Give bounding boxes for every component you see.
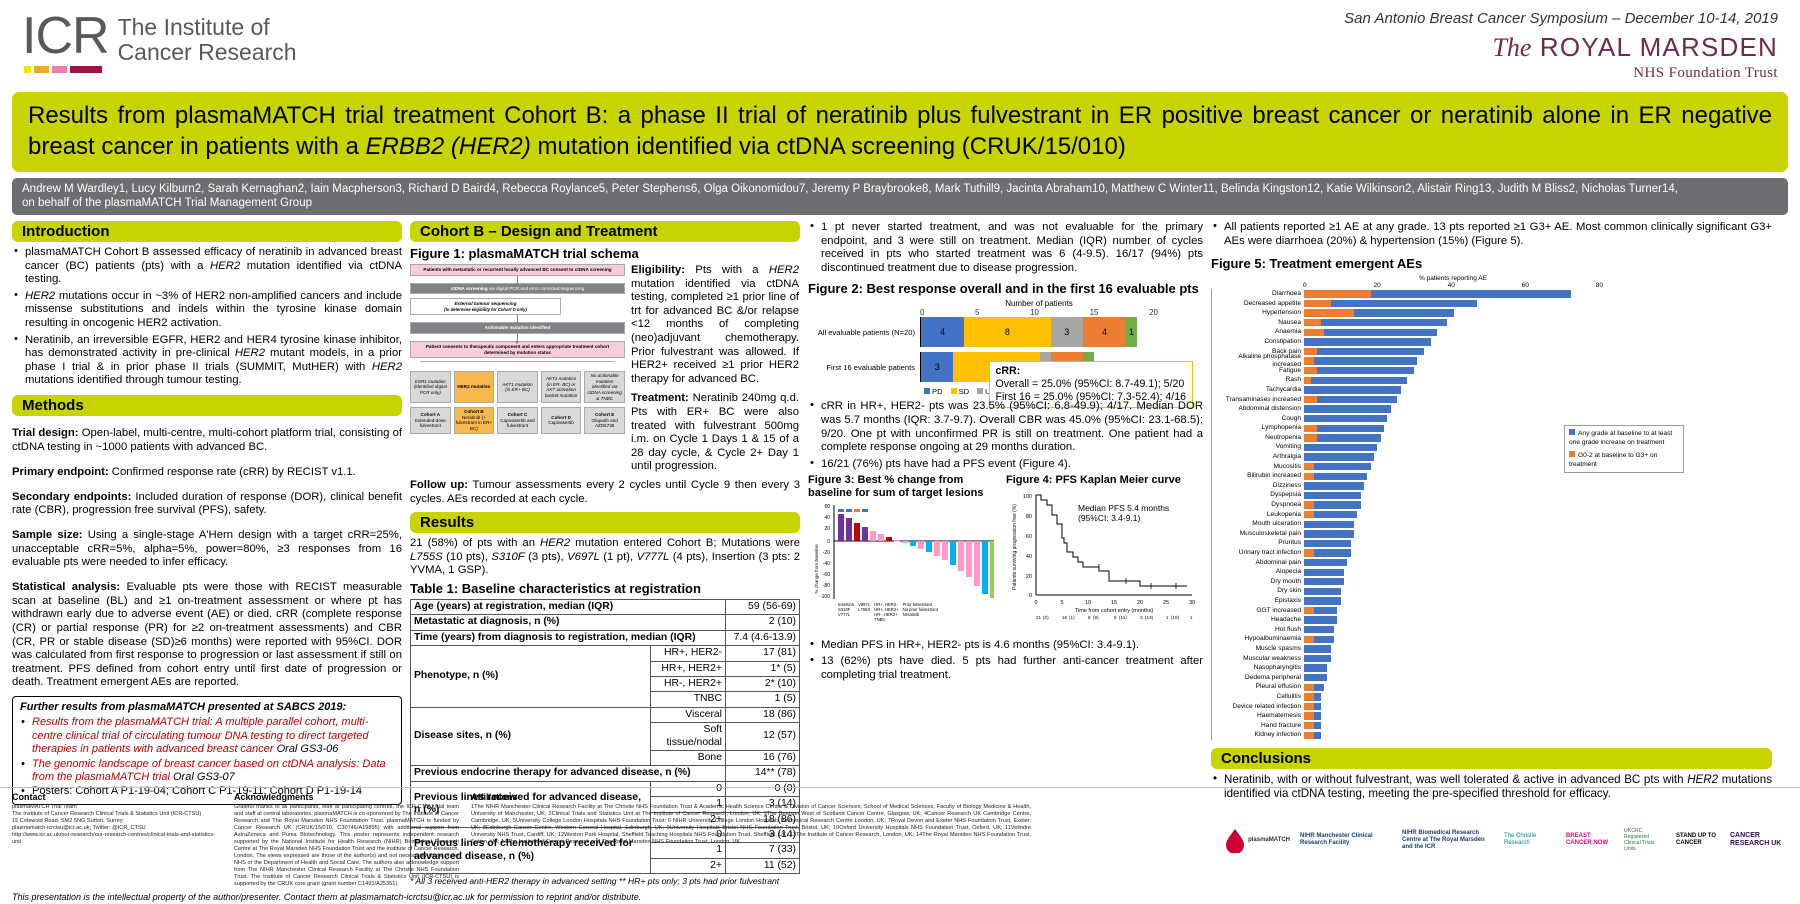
svg-text:(8): (8) [1093, 615, 1099, 620]
ae-row-label: Dizziness [1212, 482, 1304, 490]
ae-row-bars [1304, 290, 1603, 297]
ae-row-bars [1304, 367, 1603, 374]
ae-bar-any-grade [1304, 578, 1344, 585]
schema-cohort-d: Cohort DCapivasertib [541, 407, 582, 433]
figure2-cat-label-1: All evaluable patients (N=20) [808, 328, 920, 337]
figure5-title: Figure 5: Treatment emergent AEs [1211, 256, 1772, 271]
royal-marsden-title: The ROYAL MARSDEN [1492, 32, 1778, 63]
figure4-chart: 100 80 60 40 20 0 Patients surviving pro… [1006, 487, 1206, 637]
ae-row: Constipation [1212, 337, 1603, 347]
ae-row-label: Anaemia [1212, 328, 1304, 336]
km-annotation-line1: Median PFS 5.4 months [1078, 503, 1169, 513]
section-heading-methods: Methods [12, 395, 402, 416]
ae-row: Urinary tract infection [1212, 548, 1603, 558]
figure2-axis-title: Number of patients [920, 299, 1158, 308]
section-heading-conclusions: Conclusions [1211, 748, 1772, 769]
figure2-title: Figure 2: Best response overall and in t… [808, 281, 1203, 296]
methods-primary-endpoint-label: Primary endpoint: [12, 466, 109, 478]
ae-row-label: Muscle spasms [1212, 645, 1304, 653]
svg-text:20: 20 [1026, 574, 1032, 580]
svg-text:-60: -60 [823, 572, 830, 578]
ae-row-bars [1304, 348, 1603, 355]
ae-row: Mouth ulceration [1212, 519, 1603, 529]
legend-swatch-icon-pd [924, 388, 930, 394]
further-results-heading: Further results from plasmaMATCH present… [20, 701, 394, 714]
figure3-legend-mutations: Insertion S310F V777L [838, 602, 854, 622]
ae-row-bars [1304, 357, 1603, 364]
cruk-logo: CANCER RESEARCH UK [1730, 832, 1788, 848]
ae-row-bars [1304, 405, 1603, 412]
km-annotation: Median PFS 5.4 months (95%CI: 3.4-9.1) [1078, 503, 1169, 523]
nihr-brc-label: NIHR Biomedical Research Centre at The R… [1402, 830, 1494, 851]
ae-row-label: Nasopharyngitis [1212, 664, 1304, 672]
t1-disease-val-1: 18 (86) [726, 707, 800, 722]
ae-bar-g3plus [1304, 549, 1314, 556]
footer-columns: Contact plasmaMATCH Trial Team The Insti… [12, 792, 1788, 888]
ae-row: Rash [1212, 376, 1603, 386]
ae-row-bars [1304, 329, 1603, 336]
ae-row-label: Diarrhoea [1212, 290, 1304, 298]
methods-sample-size: Sample size: Using a single-stage A'Hern… [12, 529, 402, 570]
ae-row: Oedema peripheral [1212, 673, 1603, 683]
svg-text:(1): (1) [1069, 615, 1075, 620]
ae-bar-g3plus [1304, 703, 1314, 710]
svg-text:60: 60 [824, 504, 830, 510]
figure4-title: Figure 4: PFS Kaplan Meier curve [1006, 474, 1202, 487]
figure2-legend-sd-label: SD [959, 387, 970, 396]
ae-row-bars [1304, 626, 1603, 633]
ae-row-bars [1304, 549, 1603, 556]
ae-row-bars [1304, 674, 1603, 681]
schema-cohort-c: Cohort CCapivasertib and fulvestrant [497, 407, 538, 433]
ae-bar-any-grade [1304, 521, 1354, 528]
figure2-seg-sd-1: 8 [964, 317, 1050, 347]
methods-secondary-endpoints: Secondary endpoints: Included duration o… [12, 491, 402, 518]
ae-row-label: Nausea [1212, 319, 1304, 327]
ae-row-bars [1304, 415, 1603, 422]
schema-cohort-d-desc: Capivasertib [548, 420, 574, 426]
ae-row-label: Mouth ulceration [1212, 520, 1304, 528]
schema-step-2-rest: via digital PCR and error corrected sequ… [488, 286, 585, 291]
ae-bar-any-grade [1304, 386, 1401, 393]
legend-swatch-icon-g3plus [1569, 451, 1575, 457]
ae-row: Alkaline phosphatase increased [1212, 356, 1603, 366]
svg-text:(11): (11) [1119, 615, 1127, 620]
ae-row-label: Hypertension [1212, 309, 1304, 317]
figure2-bar-row-all: All evaluable patients (N=20) 4 8 3 4 1 [808, 317, 1203, 347]
km-annotation-line2: (95%CI: 3.4-9.1) [1078, 513, 1169, 523]
col3-bullet-list-1: 1 pt never started treatment, and was no… [808, 221, 1203, 275]
figure2-xtick-0: 0 [920, 308, 924, 317]
ae-row: Vomiting [1212, 443, 1603, 453]
figure5-bar-rows: DiarrhoeaDecreased appetiteHypertensionN… [1211, 289, 1603, 740]
t1-r10-label: Previous endocrine therapy for advanced … [411, 766, 726, 781]
trial-schema-diagram: Patients with metastatic or recurrent lo… [410, 264, 625, 474]
ae-row-label: Pruritus [1212, 539, 1304, 547]
plasmamatch-drop-icon [1222, 827, 1248, 853]
ae-row: Fatigue [1212, 366, 1603, 376]
t1-disease-sub-3: Bone [650, 750, 725, 765]
schema-cohort-c-desc: Capivasertib and fulvestrant [499, 418, 536, 429]
figure2-xtick-4: 20 [1149, 308, 1158, 317]
col4-bullet-list: All patients reported ≥1 AE at any grade… [1211, 221, 1772, 248]
svg-text:80: 80 [1026, 514, 1032, 520]
svg-text:20: 20 [1137, 600, 1143, 606]
column-3: 1 pt never started treatment, and was no… [808, 221, 1203, 686]
ae-row-bars [1304, 492, 1603, 499]
ae-row-label: Neutropenia [1212, 434, 1304, 442]
ae-bar-any-grade [1304, 530, 1354, 537]
svg-text:16: 16 [1062, 615, 1068, 620]
icr-logo-line2: Cancer Research [118, 40, 297, 65]
ae-row-label: Mucositis [1212, 463, 1304, 471]
ae-bar-any-grade [1304, 357, 1417, 364]
ae-row-bars [1304, 425, 1603, 432]
schema-arrow-icon-3 [517, 334, 518, 341]
figure3-block: Figure 3: Best % change from baseline fo… [808, 474, 1000, 637]
col3-bullet-5: 13 (62%) pts have died. 5 pts had furthe… [821, 655, 1203, 682]
ae-bar-g3plus [1304, 348, 1317, 355]
ae-row-bars [1304, 616, 1603, 623]
footer-ack-heading: Acknowledgments [234, 792, 459, 802]
table-row: Previous endocrine therapy for advanced … [411, 766, 800, 781]
svg-text:15: 15 [1111, 600, 1117, 606]
svg-text:0: 0 [1034, 600, 1037, 606]
fig3-note-3: Neratinib [903, 612, 938, 617]
ae-row-bars [1304, 396, 1603, 403]
svg-text:0: 0 [1029, 593, 1032, 599]
ae-row-label: Abdominal pain [1212, 559, 1304, 567]
ae-row-label: Abdominal distension [1212, 405, 1304, 413]
methods-trial-design-label: Trial design: [12, 427, 79, 439]
ae-row-label: Constipation [1212, 338, 1304, 346]
poster-title: Results from plasmaMATCH trial treatment… [12, 92, 1788, 172]
ae-bar-g3plus [1304, 732, 1314, 739]
methods-sample-size-label: Sample size: [12, 529, 83, 541]
ae-bar-any-grade [1304, 482, 1364, 489]
ae-row: Alopecia [1212, 567, 1603, 577]
figure2-track-1: 4 8 3 4 1 [920, 317, 1158, 347]
ae-row-label: Tachycardia [1212, 386, 1304, 394]
svg-text:Time from cohort entry (months: Time from cohort entry (months) [1075, 608, 1154, 614]
methods-trial-design: Trial design: Open-label, multi-centre, … [12, 427, 402, 454]
intro-bullet-1: plasmaMATCH Cohort B assessed efficacy o… [25, 246, 402, 287]
figure3-figure4-row: Figure 3: Best % change from baseline fo… [808, 474, 1203, 637]
footer-contact: Contact plasmaMATCH Trial Team The Insti… [12, 792, 222, 888]
ae-bar-g3plus [1304, 607, 1314, 614]
ae-bar-g3plus [1304, 396, 1317, 403]
ae-row-bars [1304, 664, 1603, 671]
svg-text:100: 100 [1023, 494, 1032, 500]
ae-row-bars [1304, 732, 1603, 739]
col3-bullet-list-3: Median PFS in HR+, HER2- pts is 4.6 mont… [808, 639, 1203, 683]
col3-bullet-2: cRR in HR+, HER2- pts was 23.5% (95%CI: … [821, 400, 1203, 454]
crr-box-line1: Overall = 25.0% (95%CI: 8.7-49.1); 5/20 [996, 378, 1187, 391]
svg-text:-20: -20 [823, 550, 830, 556]
ae-bar-any-grade [1304, 626, 1334, 633]
svg-text:-40: -40 [823, 561, 830, 567]
legend-swatch-icon-upr [977, 388, 983, 394]
svg-text:10: 10 [1085, 600, 1091, 606]
legend-swatch-icon-sd [951, 388, 957, 394]
ae-row-bars [1304, 703, 1603, 710]
figure2-seg-cr-1: 1 [1126, 317, 1137, 347]
nihr-manchester-logo: NIHR Manchester Clinical Research Facili… [1300, 833, 1392, 847]
ae-row-label: Headache [1212, 616, 1304, 624]
ae-row: Device related infection [1212, 702, 1603, 712]
svg-text:-100: -100 [820, 594, 830, 600]
svg-text:40: 40 [1026, 554, 1032, 560]
ae-row: Tachycardia [1212, 385, 1603, 395]
footer-affiliations: Affiliations 1The NIHR Manchester Clinic… [471, 792, 1031, 888]
ae-row: Dry skin [1212, 587, 1603, 597]
schema-step-2-bold: ctDNA screening [451, 286, 488, 291]
schema-arrow-icon-2 [517, 315, 518, 322]
icr-logo-words: The Institute of Cancer Research [118, 15, 297, 65]
ae-row-label: Hypoalbuminaemia [1212, 635, 1304, 643]
further-item-2-ref: Oral GS3-07 [173, 771, 235, 783]
ae-row: Musculoskeletal pain [1212, 529, 1603, 539]
ae-row-label: Hot flush [1212, 626, 1304, 634]
ae-bar-g3plus [1304, 463, 1314, 470]
authors-behalf: on behalf of the plasmaMATCH Trial Manag… [22, 196, 1778, 210]
ae-row-label: Dyspepsia [1212, 491, 1304, 499]
title-gene: ERBB2 (HER2) [366, 133, 531, 160]
schema-cohort-a-desc: Extended-dose fulvestrant [412, 418, 449, 429]
eligibility-treatment-text: Eligibility: Pts with a HER2 mutation id… [631, 264, 799, 474]
ae-row-label: Epistaxis [1212, 597, 1304, 605]
methods-primary-endpoint-text: Confirmed response rate (cRR) by RECIST … [109, 466, 356, 478]
figure4-block: Figure 4: PFS Kaplan Meier curve 100 80 … [1006, 474, 1202, 637]
ae-row-bars [1304, 300, 1603, 307]
figure2-legend-pd: PD [924, 387, 943, 396]
schema-mutation-akt1-erpos: AKT1 mutation (in ER+ BC) [497, 371, 538, 403]
ae-bar-g3plus [1304, 425, 1317, 432]
t1-phenotype-label: Phenotype, n (%) [411, 646, 651, 708]
schema-cohort-b-desc: Neratinib (+ fulvestrant in ER+ BC) [456, 415, 493, 432]
t1-r1-value: 2 (10) [726, 615, 800, 630]
svg-text:60: 60 [1026, 534, 1032, 540]
ae-row-bars [1304, 338, 1603, 345]
ae-row-bars [1304, 463, 1603, 470]
ae-row-label: Haematemesis [1212, 712, 1304, 720]
figure5-legend-any: Any grade at baseline to at least one gr… [1569, 429, 1679, 447]
further-item-1: Results from the plasmaMATCH trial: A mu… [32, 716, 394, 756]
footer-affil-text: 1The NIHR Manchester Clinical Research F… [471, 804, 1031, 846]
ae-row-bars [1304, 722, 1603, 729]
ae-row: Transaminases increased [1212, 395, 1603, 405]
ae-row: Arthralgia [1212, 452, 1603, 462]
svg-text:% change from baseline: % change from baseline [814, 544, 819, 594]
ae-row: Dry mouth [1212, 577, 1603, 587]
ae-row-label: Vomiting [1212, 443, 1304, 451]
footer-logo-strip: plasmaMATCH NIHR Manchester Clinical Res… [1043, 792, 1788, 888]
methods-secondary-endpoints-label: Secondary endpoints: [12, 491, 131, 503]
ae-bar-g3plus [1304, 511, 1314, 518]
figure5-legend-g3-label: G0-2 at baseline to G3+ on treatment [1569, 452, 1657, 468]
svg-text:1: 1 [1166, 615, 1169, 620]
footer-ack-text: Grateful thanks to all participants, sta… [234, 804, 459, 888]
methods-body: Trial design: Open-label, multi-centre, … [12, 427, 402, 690]
schema-external-sequencing: External tumour sequencing (to determine… [410, 298, 561, 315]
ae-row-label: Urinary tract infection [1212, 549, 1304, 557]
ae-row: Headache [1212, 615, 1603, 625]
ae-row-label: GGT increased [1212, 607, 1304, 615]
ae-row-bars [1304, 540, 1603, 547]
figure5-xtick-0: 0 [1303, 282, 1307, 289]
figure5-xtick-3: 60 [1522, 282, 1529, 289]
figure5-legend: Any grade at baseline to at least one gr… [1564, 425, 1684, 473]
ae-row-bars [1304, 453, 1603, 460]
column-1: Introduction plasmaMATCH Cohort B assess… [12, 221, 402, 805]
figure2-seg-pd-1: 4 [921, 317, 964, 347]
methods-statistical-analysis-label: Statistical analysis: [12, 581, 120, 593]
ae-row: Hypoalbuminaemia [1212, 635, 1603, 645]
ae-bar-g3plus [1304, 357, 1314, 364]
svg-text:-80: -80 [823, 583, 830, 589]
royal-marsden-name: ROYAL MARSDEN [1540, 32, 1778, 62]
ae-row: Hand fracture [1212, 721, 1603, 731]
breast-cancer-now-logo: BREAST CANCER NOW [1566, 833, 1614, 847]
ae-bar-g3plus [1304, 722, 1314, 729]
poster-columns: Introduction plasmaMATCH Cohort B assess… [0, 215, 1800, 886]
ae-bar-any-grade [1304, 597, 1341, 604]
ae-row: Dizziness [1212, 481, 1603, 491]
ae-row: Pruritus [1212, 539, 1603, 549]
figure2-seg-pd-2: 3 [921, 352, 953, 382]
ae-bar-g3plus [1304, 473, 1314, 480]
methods-primary-endpoint: Primary endpoint: Confirmed response rat… [12, 466, 402, 480]
t1-phenotype-sub-1: HR+, HER2- [650, 646, 725, 661]
methods-statistical-analysis-text: Evaluable pts were those with RECIST mea… [12, 581, 402, 688]
ae-row: GGT increased [1212, 606, 1603, 616]
figure5-xtick-4: 80 [1596, 282, 1603, 289]
ae-bar-any-grade [1304, 492, 1361, 499]
figure3-legend-notes: Prior fulvestrant No prior fulvestrant N… [903, 602, 938, 622]
ae-row: Neutropenia [1212, 433, 1603, 443]
svg-text:40: 40 [824, 515, 830, 521]
ae-row-label: Cellulitis [1212, 693, 1304, 701]
ae-bar-any-grade [1304, 616, 1337, 623]
ae-row: Hypertension [1212, 308, 1603, 318]
ae-row-label: Pleural effusion [1212, 683, 1304, 691]
t1-r0-value: 59 (56-69) [726, 599, 800, 614]
ae-row-label: Lymphopenia [1212, 424, 1304, 432]
t1-r2-label: Time (years) from diagnosis to registrat… [411, 630, 726, 645]
svg-text:20: 20 [824, 526, 830, 532]
followup-label: Follow up: [410, 479, 468, 491]
ae-row-bars [1304, 588, 1603, 595]
t1-phenotype-val-4: 1 (5) [726, 692, 800, 707]
ae-row-label: Rash [1212, 376, 1304, 384]
ae-row: Muscle spasms [1212, 644, 1603, 654]
t1-phenotype-sub-4: TNBC [650, 692, 725, 707]
ae-row: Abdominal distension [1212, 404, 1603, 414]
ukcrc-logo: UKCRC Registered Clinical Trials Units [1624, 828, 1666, 852]
figure5-axis-title: % patients reporting AE [1303, 275, 1603, 282]
ae-row: Kidney infection [1212, 731, 1603, 741]
ae-row-bars [1304, 569, 1603, 576]
ae-bar-any-grade [1304, 588, 1341, 595]
figure2-seg-upr-1: 3 [1051, 317, 1083, 347]
schema-step-1: Patients with metastatic or recurrent lo… [410, 264, 625, 276]
ae-bar-g3plus [1304, 377, 1311, 384]
conference-name: San Antonio Breast Cancer Symposium – De… [1344, 10, 1778, 27]
ae-row-bars [1304, 521, 1603, 528]
figure2-legend-pd-label: PD [932, 387, 943, 396]
christie-label: The Christie Research [1504, 833, 1556, 847]
plasmamatch-logo: plasmaMATCH [1222, 827, 1290, 853]
schema-cohort-b: Cohort BNeratinib (+ fulvestrant in ER+ … [454, 407, 495, 433]
author-list: Andrew M Wardley1, Lucy Kilburn2, Sarah … [12, 178, 1788, 215]
table1-title: Table 1: Baseline characteristics at reg… [410, 581, 800, 596]
svg-text:25: 25 [1163, 600, 1169, 606]
ae-row-bars [1304, 655, 1603, 662]
ae-row: Pleural effusion [1212, 683, 1603, 693]
svg-text:3: 3 [1140, 615, 1143, 620]
ae-bar-any-grade [1304, 540, 1351, 547]
schema-mutation-row: ESR1 mutation (identified digital PCR on… [410, 371, 625, 403]
ae-bar-any-grade [1304, 405, 1391, 412]
col3-bullet-list-2: cRR in HR+, HER2- pts was 23.5% (95%CI: … [808, 400, 1203, 471]
ae-row-label: Cough [1212, 415, 1304, 423]
svg-text:1: 1 [1190, 615, 1193, 620]
figure3-legend-phenotype: HR+, HER2- HR+, HER2+ HR-, HER2+ TNBC [874, 602, 898, 622]
svg-text:6: 6 [1114, 615, 1117, 620]
icr-logo: ICR The Institute of Cancer Research [22, 12, 297, 65]
ae-row-bars [1304, 559, 1603, 566]
ae-row: Diarrhoea [1212, 289, 1603, 299]
ae-row: Haematemesis [1212, 711, 1603, 721]
ae-row-label: Arthralgia [1212, 453, 1304, 461]
figure5-legend-any-label: Any grade at baseline to at least one gr… [1569, 430, 1672, 446]
figure3-title: Figure 3: Best % change from baseline fo… [808, 474, 1000, 499]
schema-cohort-a: Cohort AExtended-dose fulvestrant [410, 407, 451, 433]
svg-text:Patients surviving progression: Patients surviving progression free (%) [1012, 504, 1018, 590]
figure2-cat-label-2: First 16 evaluable patients [808, 363, 920, 372]
table-row: Phenotype, n (%)HR+, HER2-17 (81) [411, 646, 800, 661]
t1-disease-val-3: 16 (76) [726, 750, 800, 765]
ae-row-bars [1304, 511, 1603, 518]
methods-statistical-analysis: Statistical analysis: Evaluable pts were… [12, 581, 402, 690]
ae-row: Cough [1212, 414, 1603, 424]
ae-row-bars [1304, 597, 1603, 604]
ae-row-label: Hand fracture [1212, 722, 1304, 730]
ae-row-label: Dry skin [1212, 587, 1304, 595]
figure2-xtick-2: 10 [1030, 308, 1039, 317]
t1-r2-value: 7.4 (4.6-13.9) [726, 630, 800, 645]
treatment-paragraph: Treatment: Neratinib 240mg q.d. Pts with… [631, 392, 799, 474]
cruk-label: CANCER RESEARCH UK [1730, 832, 1788, 848]
ae-row: Bilirubin increased [1212, 471, 1603, 481]
figure1-title: Figure 1: plasmaMATCH trial schema [410, 246, 800, 261]
eligibility-paragraph: Eligibility: Pts with a HER2 mutation id… [631, 264, 799, 386]
ae-row: Anaemia [1212, 328, 1603, 338]
ae-row: Epistaxis [1212, 596, 1603, 606]
ae-bar-g3plus [1304, 300, 1331, 307]
t1-disease-label: Disease sites, n (%) [411, 707, 651, 766]
ae-row-bars [1304, 645, 1603, 652]
poster-header: ICR The Institute of Cancer Research San… [0, 0, 1800, 92]
t1-phenotype-val-2: 1* (5) [726, 661, 800, 676]
svg-text:5: 5 [1060, 600, 1063, 606]
plasmamatch-logo-label: plasmaMATCH [1248, 837, 1290, 843]
t1-disease-val-2: 12 (57) [726, 723, 800, 751]
figure3-legend-mutations-2: V697L L755S [858, 602, 870, 622]
intro-bullet-2: HER2 mutations occur in ~3% of HER2 non-… [25, 290, 402, 331]
schema-mutation-her2: HER2 mutation [454, 371, 495, 403]
ae-row-bars [1304, 530, 1603, 537]
